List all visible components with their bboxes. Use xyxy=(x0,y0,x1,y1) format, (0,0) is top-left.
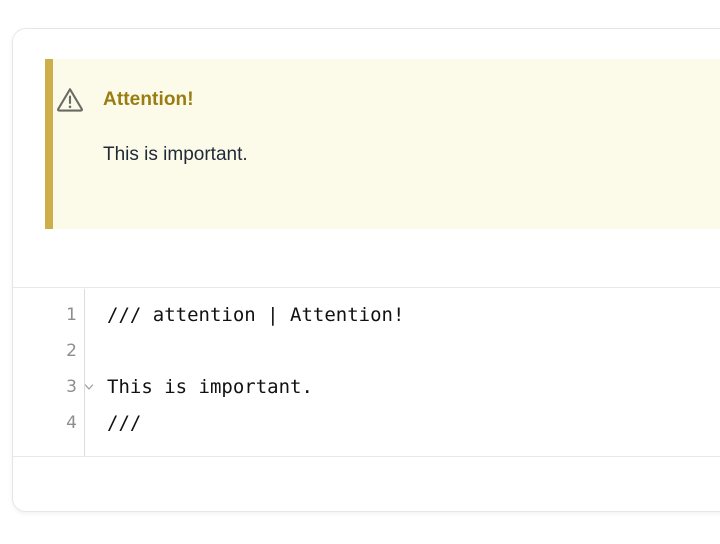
line-number: 3 xyxy=(66,377,77,397)
code-line-text[interactable]: This is important. xyxy=(85,369,720,405)
card-footer xyxy=(13,458,720,511)
callout-accent-bar xyxy=(45,59,53,229)
screenshot-stage: Attention! This is important. 1 /// atte… xyxy=(0,0,720,544)
callout-body: Attention! This is important. xyxy=(53,59,720,229)
callout-text: This is important. xyxy=(103,144,720,166)
code-line-row[interactable]: 4 /// xyxy=(13,405,720,441)
line-number-gutter: 2 xyxy=(13,333,85,369)
chevron-down-icon[interactable] xyxy=(83,381,95,393)
code-line-row[interactable]: 2 xyxy=(13,333,720,369)
code-line-text[interactable]: /// xyxy=(85,405,720,441)
line-number: 1 xyxy=(66,305,77,325)
preview-pane: Attention! This is important. xyxy=(13,29,720,288)
code-line-row[interactable]: 1 /// attention | Attention! xyxy=(13,297,720,333)
code-line-row[interactable]: 3 This is important. xyxy=(13,369,720,405)
line-number: 4 xyxy=(66,413,77,433)
code-line-text[interactable]: /// attention | Attention! xyxy=(85,297,720,333)
code-pane[interactable]: 1 /// attention | Attention! 2 3 xyxy=(13,289,720,457)
line-number-gutter: 4 xyxy=(13,405,85,441)
line-number-gutter: 1 xyxy=(13,297,85,333)
line-number: 2 xyxy=(66,341,77,361)
attention-callout: Attention! This is important. xyxy=(45,59,720,229)
callout-header: Attention! xyxy=(103,85,720,115)
code-lines: 1 /// attention | Attention! 2 3 xyxy=(13,297,720,441)
callout-title: Attention! xyxy=(103,89,194,111)
warning-triangle-icon xyxy=(55,85,85,115)
line-number-gutter: 3 xyxy=(13,369,85,405)
admonition-example-card: Attention! This is important. 1 /// atte… xyxy=(12,28,720,512)
